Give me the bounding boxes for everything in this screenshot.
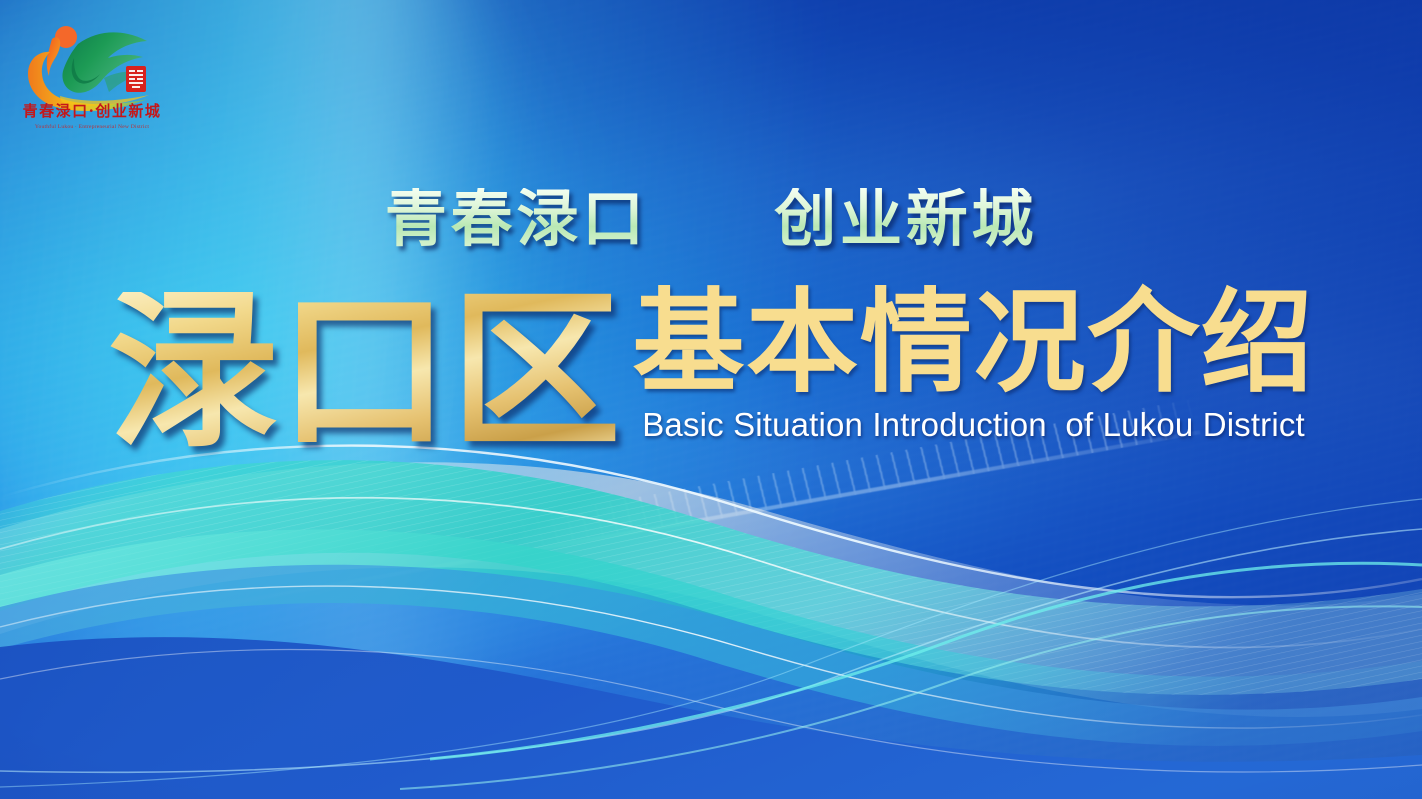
- lukou-brand-logo[interactable]: 青春渌口·创业新城 Youthful Lukou · Entrepreneuri…: [8, 8, 176, 136]
- title-secondary-group: 基本情况介绍 Basic Situation Introduction of L…: [633, 286, 1315, 450]
- slide-title-row: 渌口区 基本情况介绍 Basic Situation Introduction …: [0, 286, 1422, 450]
- page-title-english: Basic Situation Introduction of Lukou Di…: [642, 406, 1305, 444]
- slide-headline-slogan: 青春渌口 创业新城: [0, 188, 1422, 250]
- page-title-subject: 基本情况介绍: [633, 286, 1315, 400]
- logo-orange-flame-icon: [47, 37, 60, 76]
- logo-seal-icon: [126, 66, 146, 92]
- logo-chinese-slogan: 青春渌口·创业新城: [23, 102, 162, 120]
- logo-english-slogan: Youthful Lukou · Entrepreneurial New Dis…: [35, 123, 149, 130]
- page-title-district: 渌口区: [107, 292, 622, 450]
- presentation-title-slide: 青春渌口·创业新城 Youthful Lukou · Entrepreneuri…: [0, 0, 1422, 799]
